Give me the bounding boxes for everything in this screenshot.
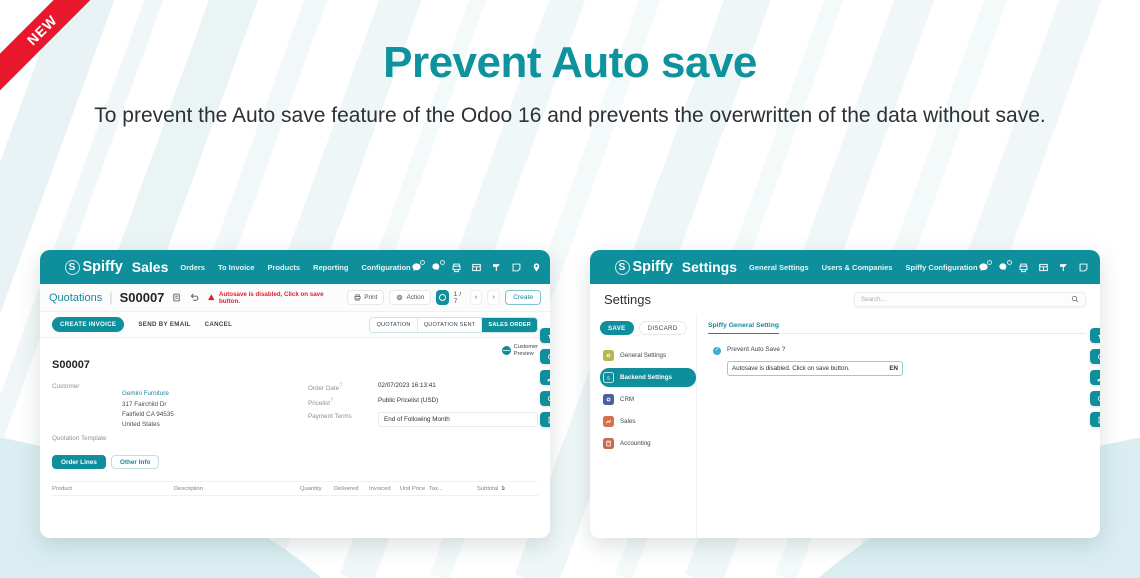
create-button[interactable]: Create — [505, 290, 541, 305]
activities-icon[interactable] — [431, 262, 442, 273]
right-nav-menu: General Settings Users & Companies Spiff… — [749, 263, 978, 272]
print-label-icon[interactable] — [1018, 262, 1029, 273]
order-date-label: Order Date? — [308, 382, 378, 392]
gear-app-icon — [603, 350, 614, 361]
megaphone-icon[interactable] — [1058, 262, 1069, 273]
col-product: Product — [52, 486, 174, 492]
create-invoice-button[interactable]: CREATE INVOICE — [52, 317, 124, 332]
form-left-column: Customer Gemini Furniture 317 Fairchild … — [52, 382, 282, 442]
status-quotation[interactable]: QUOTATION — [370, 318, 417, 332]
undo-icon[interactable] — [189, 292, 200, 303]
warning-triangle-icon — [207, 293, 216, 302]
customer-preview-button[interactable]: Customer Preview — [502, 344, 538, 358]
nav-item-users-companies[interactable]: Users & Companies — [822, 263, 893, 272]
pricelist-field: Pricelist? Public Pricelist (USD) — [308, 397, 538, 407]
customer-label: Customer — [52, 382, 122, 390]
spiffy-swirl-logo — [65, 260, 80, 275]
help-circle-icon[interactable] — [540, 349, 550, 364]
nav-item-reporting[interactable]: Reporting — [313, 263, 348, 272]
grid-view-icon[interactable] — [1038, 262, 1049, 273]
messages-badge — [987, 260, 992, 265]
settings-page-title: Settings — [604, 292, 651, 307]
autosave-message-input[interactable]: Autosave is disabled. Click on save butt… — [727, 361, 903, 376]
wrench-icon[interactable] — [540, 370, 550, 385]
star-icon[interactable] — [1090, 328, 1100, 343]
app-name-label: Settings — [682, 259, 737, 275]
col-quantity: Quantity — [300, 486, 328, 492]
sidebar-item-crm[interactable]: CRM — [600, 390, 696, 409]
note-icon[interactable] — [1078, 262, 1089, 273]
nav-item-spiffy-configuration[interactable]: Spiffy Configuration — [905, 263, 977, 272]
send-by-email-button[interactable]: SEND BY EMAIL — [138, 321, 190, 328]
right-navbar-icons — [978, 259, 1100, 276]
grid-view-icon[interactable] — [471, 262, 482, 273]
action-label: Action — [406, 294, 424, 301]
document-number: S00007 — [52, 359, 538, 371]
section-title: Spiffy General Setting — [708, 322, 1086, 334]
col-description: Description — [174, 486, 300, 492]
globe-icon — [502, 346, 511, 355]
sales-app-icon — [603, 416, 614, 427]
breadcrumb-separator: | — [109, 290, 112, 305]
zoom-icon[interactable] — [540, 391, 550, 406]
sidebar-item-label: General Settings — [620, 352, 666, 359]
spiffy-swirl-logo: S — [603, 372, 614, 383]
activities-badge — [440, 260, 445, 265]
search-input[interactable] — [861, 296, 1071, 303]
settings-app-screenshot: Spiffy Settings General Settings Users &… — [590, 250, 1100, 538]
nav-item-to-invoice[interactable]: To Invoice — [218, 263, 255, 272]
pricelist-label: Pricelist? — [308, 397, 378, 407]
nav-item-general-settings[interactable]: General Settings — [749, 263, 809, 272]
new-ribbon: NEW — [0, 0, 120, 120]
col-invoiced: Invoiced — [369, 486, 396, 492]
print-icon — [354, 294, 361, 301]
autosave-warning: Autosave is disabled, Click on save butt… — [207, 291, 340, 305]
breadcrumb-current: S00007 — [120, 290, 165, 305]
quotation-template-field: Quotation Template — [52, 434, 282, 442]
pin-location-icon[interactable] — [531, 262, 542, 273]
print-button[interactable]: Print — [347, 290, 384, 305]
prevent-auto-save-checkbox[interactable] — [713, 347, 721, 355]
status-quotation-sent[interactable]: QUOTATION SENT — [418, 318, 483, 332]
pin-location-icon[interactable] — [1098, 262, 1100, 273]
app-name-label: Sales — [132, 259, 169, 275]
svg-text:S: S — [607, 375, 610, 381]
messages-badge — [420, 260, 425, 265]
arrow-left-icon[interactable]: ‹ — [470, 290, 483, 305]
settings-sidebar: SAVE DISCARD General Settings S Backend … — [590, 314, 697, 538]
sidebar-item-backend-settings[interactable]: S Backend Settings — [600, 368, 696, 387]
customer-address: 317 Fairchild Dr Fairfield CA 94535 Unit… — [122, 400, 174, 429]
pager-label: 1 / 7 — [454, 291, 465, 305]
language-badge[interactable]: EN — [889, 365, 898, 372]
order-date-value[interactable]: 02/07/2023 16:13:41 — [378, 382, 436, 389]
search-box[interactable] — [854, 292, 1086, 307]
payment-terms-label: Payment Terms — [308, 412, 378, 420]
form-right-column: Order Date? 02/07/2023 16:13:41 Pricelis… — [308, 382, 538, 442]
prevent-auto-save-option: Prevent Auto Save ? — [708, 346, 1086, 355]
action-statusbar-row: CREATE INVOICE SEND BY EMAIL CANCEL QUOT… — [40, 312, 550, 338]
quotation-form: Customer Gemini Furniture 317 Fairchild … — [52, 382, 538, 442]
breadcrumb-parent[interactable]: Quotations — [49, 292, 102, 304]
brand-logo[interactable]: Spiffy — [615, 259, 673, 275]
nav-item-configuration[interactable]: Configuration — [361, 263, 410, 272]
help-circle-icon[interactable] — [1090, 349, 1100, 364]
settings-body: SAVE DISCARD General Settings S Backend … — [590, 314, 1100, 538]
megaphone-icon[interactable] — [491, 262, 502, 273]
nav-item-orders[interactable]: Orders — [180, 263, 205, 272]
print-label: Print — [364, 294, 377, 301]
sheet-tabs: Order Lines Other Info — [52, 455, 538, 469]
sales-app-screenshot: Spiffy Sales Orders To Invoice Products … — [40, 250, 550, 538]
bookmark-icon[interactable] — [540, 412, 550, 427]
page-title: Prevent Auto save — [0, 38, 1140, 88]
save-button[interactable]: SAVE — [600, 321, 634, 335]
payment-terms-input[interactable]: End of Following Month — [378, 412, 538, 427]
cancel-button[interactable]: CANCEL — [205, 321, 233, 328]
col-delivered: Delivered — [334, 486, 363, 492]
activities-badge — [1007, 260, 1012, 265]
page-subtitle: To prevent the Auto save feature of the … — [0, 102, 1140, 130]
status-bar: QUOTATION QUOTATION SENT SALES ORDER — [369, 317, 538, 333]
sidebar-item-label: Accounting — [620, 440, 651, 447]
grid-apps-icon[interactable] — [53, 261, 56, 274]
col-subtotal: Subtotal — [477, 486, 498, 492]
sidebar-item-general-settings[interactable]: General Settings — [600, 346, 696, 365]
spiffy-swirl-logo — [615, 260, 630, 275]
settings-main: Spiffy General Setting Prevent Auto Save… — [697, 314, 1100, 538]
customer-value[interactable]: Gemini Furniture — [122, 390, 169, 397]
order-date-field: Order Date? 02/07/2023 16:13:41 — [308, 382, 538, 392]
messages-icon[interactable] — [978, 262, 989, 273]
record-controls: Print Action 1 / 7 ‹ › Create — [347, 290, 541, 305]
wrench-icon[interactable] — [1090, 370, 1100, 385]
brand-name: Spiffy — [83, 259, 123, 275]
prevent-auto-save-label: Prevent Auto Save ? — [727, 346, 785, 353]
tab-other-info[interactable]: Other Info — [111, 455, 160, 469]
action-button[interactable]: Action — [389, 290, 431, 305]
arrow-right-icon[interactable]: › — [487, 290, 500, 305]
status-sales-order[interactable]: SALES ORDER — [482, 318, 537, 332]
search-icon — [1071, 295, 1079, 303]
bookmark-icon[interactable] — [1090, 412, 1100, 427]
grid-apps-icon[interactable] — [603, 261, 606, 274]
sidebar-item-sales[interactable]: Sales — [600, 412, 696, 431]
order-lines-table-header: Product Description Quantity Delivered I… — [52, 481, 538, 496]
left-nav-menu: Orders To Invoice Products Reporting Con… — [180, 263, 410, 272]
note-icon[interactable] — [511, 262, 522, 273]
quotation-sheet: Customer Preview S00007 Customer Gemini … — [40, 338, 550, 538]
tab-order-lines[interactable]: Order Lines — [52, 455, 106, 469]
page-header: Prevent Auto save To prevent the Auto sa… — [0, 38, 1140, 130]
sidebar-item-label: Sales — [620, 418, 635, 425]
autosave-warning-text: Autosave is disabled, Click on save butt… — [219, 291, 340, 305]
new-ribbon-label: NEW — [0, 0, 104, 92]
right-float-toolbar — [1090, 328, 1100, 427]
sidebar-item-label: CRM — [620, 396, 634, 403]
payment-terms-field: Payment Terms End of Following Month — [308, 412, 538, 427]
customer-preview-label: Customer Preview — [514, 344, 538, 358]
col-tax: Tax... — [429, 486, 451, 492]
settings-save-discard: SAVE DISCARD — [600, 321, 696, 335]
brand-logo[interactable]: Spiffy — [65, 259, 123, 275]
cloud-save-icon[interactable] — [436, 290, 448, 305]
column-options-icon[interactable] — [501, 485, 507, 493]
pricelist-value[interactable]: Public Pricelist (USD) — [378, 397, 438, 404]
star-icon[interactable] — [540, 328, 550, 343]
settings-header: Settings — [590, 284, 1100, 314]
zoom-icon[interactable] — [1090, 391, 1100, 406]
autosave-message-value: Autosave is disabled. Click on save butt… — [732, 365, 850, 372]
crm-app-icon — [603, 394, 614, 405]
print-label-icon[interactable] — [451, 262, 462, 273]
messages-icon[interactable] — [411, 262, 422, 273]
left-float-toolbar — [540, 328, 550, 427]
nav-item-products[interactable]: Products — [268, 263, 301, 272]
brand-name: Spiffy — [633, 259, 673, 275]
left-navbar-icons — [411, 259, 550, 276]
left-navbar: Spiffy Sales Orders To Invoice Products … — [40, 250, 550, 284]
gear-icon — [396, 294, 403, 301]
customer-field: Customer Gemini Furniture 317 Fairchild … — [52, 382, 282, 429]
sidebar-item-label: Backend Settings — [620, 374, 672, 381]
breadcrumb: Quotations | S00007 Autosave is disabled… — [40, 284, 550, 312]
right-navbar: Spiffy Settings General Settings Users &… — [590, 250, 1100, 284]
sidebar-item-accounting[interactable]: Accounting — [600, 434, 696, 453]
accounting-app-icon — [603, 438, 614, 449]
quotation-template-label: Quotation Template — [52, 434, 122, 442]
attachment-icon[interactable] — [171, 292, 182, 303]
activities-icon[interactable] — [998, 262, 1009, 273]
col-unit-price: Unit Price — [400, 486, 429, 492]
discard-button[interactable]: DISCARD — [639, 321, 687, 335]
